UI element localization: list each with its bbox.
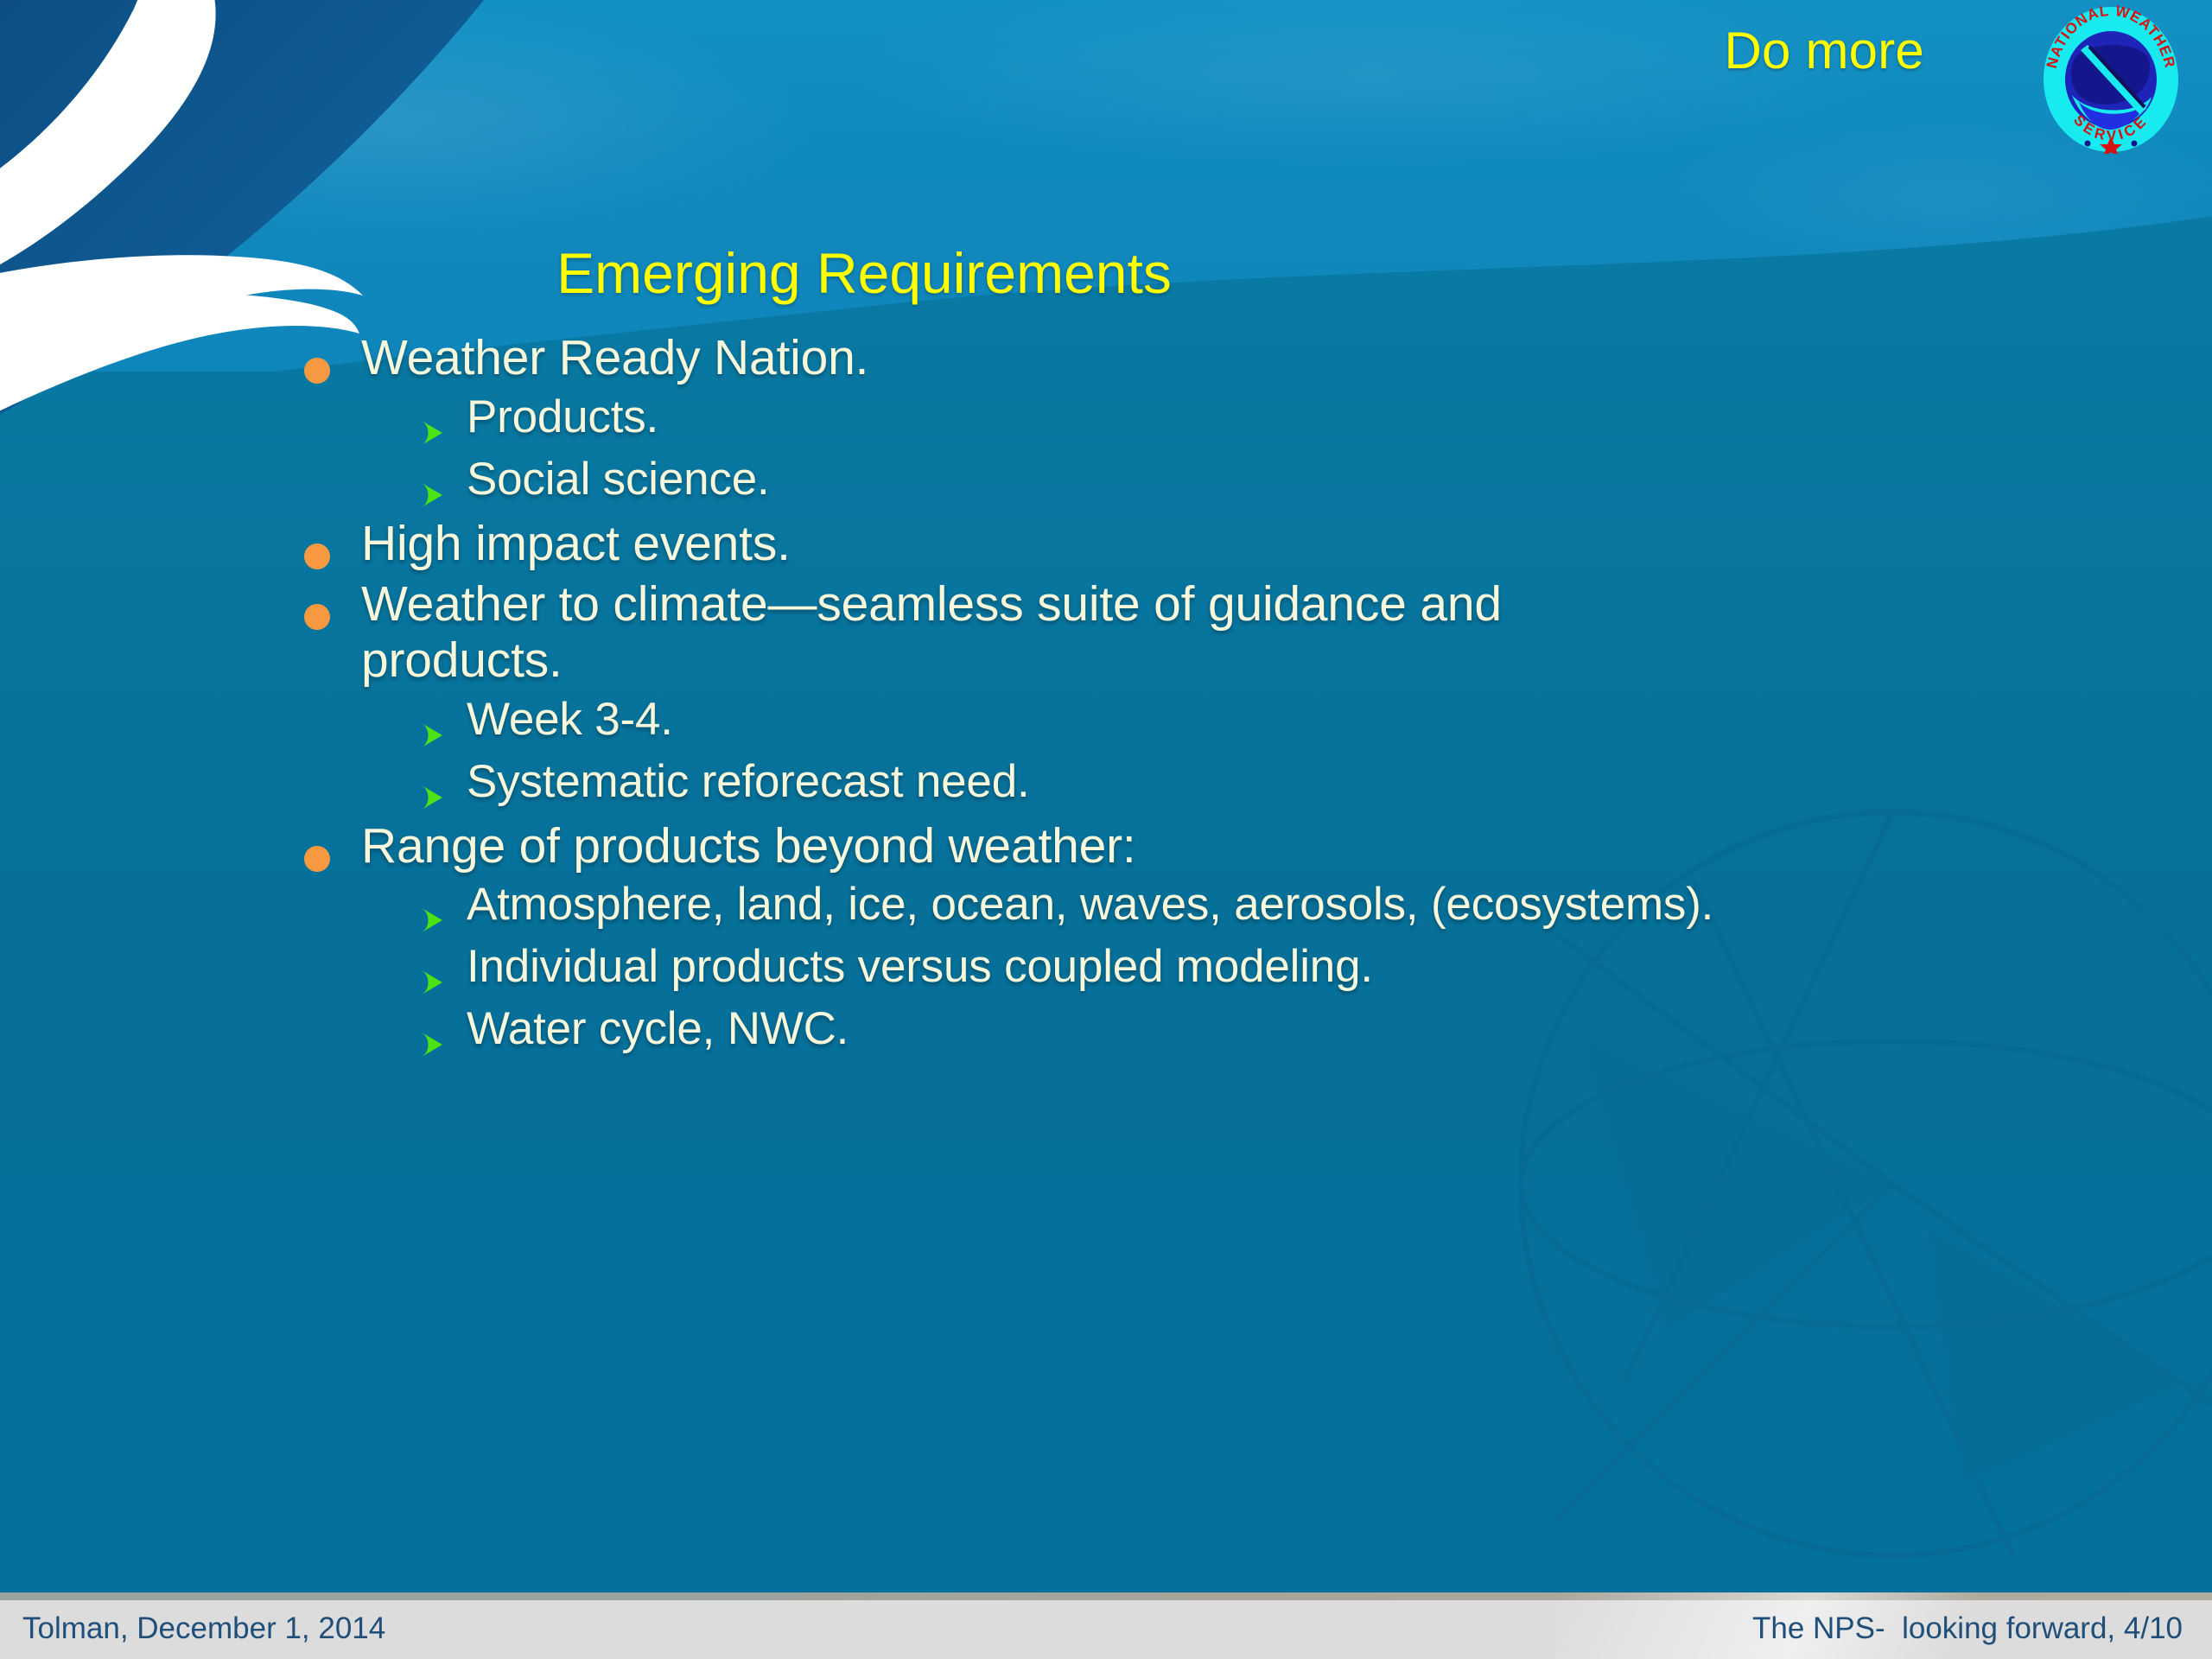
list-item-label: Systematic reforecast need.: [467, 756, 1030, 808]
list-item: Individual products versus coupled model…: [416, 941, 2084, 998]
green-arrow-bullet-icon: [416, 905, 448, 936]
list-item-label: Individual products versus coupled model…: [467, 941, 1373, 993]
orange-dot-bullet-icon: [304, 846, 330, 872]
list-item-label: Weather Ready Nation.: [361, 330, 868, 386]
list-item-label: Products.: [467, 391, 658, 443]
list-item-label: High impact events.: [361, 516, 791, 572]
orange-dot-bullet-icon: [304, 358, 330, 384]
green-arrow-bullet-icon: [416, 720, 448, 751]
list-item: Weather Ready Nation.: [304, 330, 2084, 386]
green-arrow-bullet-icon: [416, 967, 448, 998]
footer-author-date: Tolman, December 1, 2014: [22, 1611, 385, 1646]
list-item: Water cycle, NWC.: [416, 1003, 2084, 1060]
slide-kicker: Do more: [1725, 21, 1924, 80]
presentation-slide: Do more NATIONAL WEATHER SERVICE Emergin…: [0, 0, 2212, 1659]
green-arrow-bullet-icon: [416, 480, 448, 511]
nws-logo-icon: NATIONAL WEATHER SERVICE: [2034, 5, 2188, 154]
footer-deck-title-page: The NPS- looking forward, 4/10: [1752, 1611, 2183, 1646]
list-item-label: Atmosphere, land, ice, ocean, waves, aer…: [467, 879, 1713, 931]
list-item: Social science.: [416, 454, 2084, 511]
list-item-label: Week 3-4.: [467, 694, 673, 746]
list-item: Week 3-4.: [416, 694, 2084, 751]
list-item: Atmosphere, land, ice, ocean, waves, aer…: [416, 879, 2084, 936]
green-arrow-bullet-icon: [416, 417, 448, 448]
list-item-label: Range of products beyond weather:: [361, 818, 1136, 874]
list-item: Weather to climate—seamless suite of gui…: [304, 576, 2084, 688]
list-item: Range of products beyond weather:: [304, 818, 2084, 874]
bullet-list: Weather Ready Nation. Products. Social s…: [304, 330, 2084, 1065]
list-item: Products.: [416, 391, 2084, 448]
green-arrow-bullet-icon: [416, 1029, 448, 1060]
list-item-label: Water cycle, NWC.: [467, 1003, 849, 1055]
orange-dot-bullet-icon: [304, 543, 330, 569]
page-title: Emerging Requirements: [0, 240, 2212, 306]
orange-dot-bullet-icon: [304, 604, 330, 630]
green-arrow-bullet-icon: [416, 782, 448, 813]
page-title-text: Emerging Requirements: [556, 241, 1656, 305]
list-item-label: Social science.: [467, 454, 770, 505]
list-item: Systematic reforecast need.: [416, 756, 2084, 813]
slide-footer: Tolman, December 1, 2014 The NPS- lookin…: [0, 1592, 2212, 1659]
footer-divider: [0, 1592, 2212, 1600]
list-item: High impact events.: [304, 516, 2084, 572]
list-item-label: Weather to climate—seamless suite of gui…: [361, 576, 1623, 688]
